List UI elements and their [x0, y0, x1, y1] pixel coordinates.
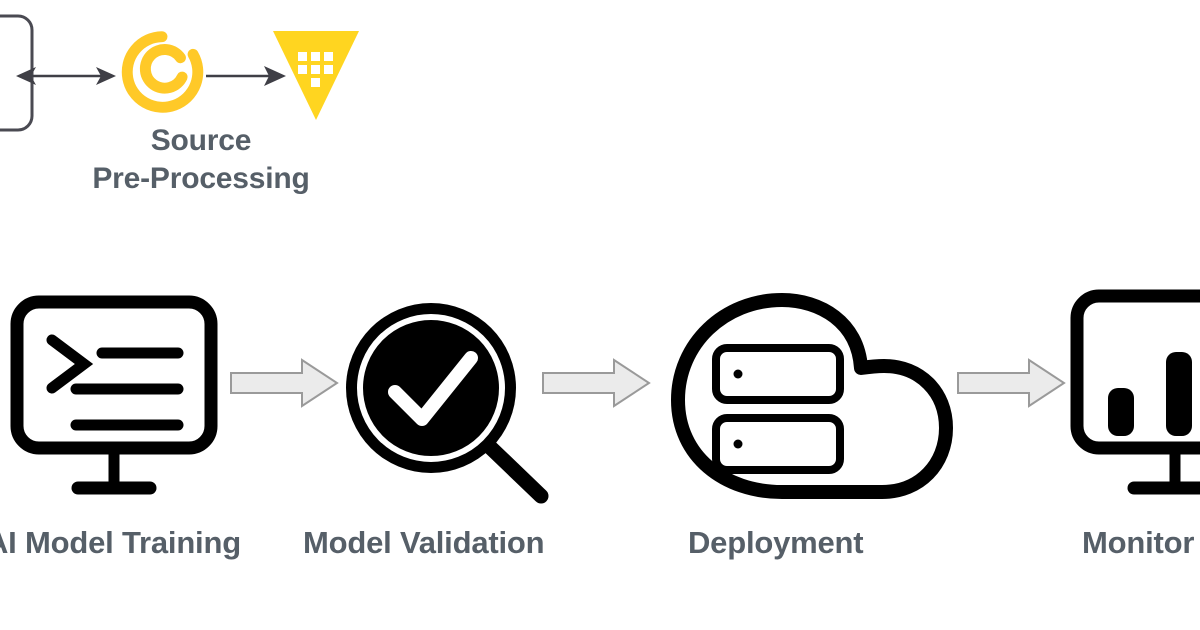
pipeline-step-ai-model-training[interactable] [10, 296, 218, 502]
pipeline-step-label-monitoring: Monitor [1082, 525, 1194, 561]
source-preprocessing-label-group: Source Pre-Processing [58, 122, 344, 198]
block-arrow-right-icon [540, 356, 652, 410]
pipeline-step-model-validation[interactable] [343, 300, 563, 504]
pipeline-step-deployment[interactable] [668, 296, 956, 504]
magnifier-checkmark-icon [343, 300, 563, 504]
pipeline-step-label-model-validation: Model Validation [303, 525, 544, 561]
arrow-deployment-to-monitoring [955, 356, 1067, 410]
block-arrow-right-icon [228, 356, 340, 410]
source-label-line-2: Pre-Processing [58, 160, 344, 198]
diagram-canvas: Source Pre-Processing AI Model Training [0, 0, 1200, 630]
pipeline-step-label-ai-model-training: AI Model Training [0, 525, 241, 561]
funnel-grid-triangle-icon [272, 28, 360, 124]
cloud-server-icon [668, 296, 956, 504]
spiral-icon [120, 30, 204, 114]
block-arrow-right-icon [955, 356, 1067, 410]
pipeline-step-label-deployment: Deployment [688, 525, 863, 561]
source-label-line-1: Source [58, 122, 344, 160]
pipeline-step-monitoring[interactable] [1070, 290, 1200, 502]
concentric-spiral-icon [120, 30, 204, 114]
double-arrow-icon [14, 60, 118, 92]
arrow-validation-to-deployment [540, 356, 652, 410]
terminal-monitor-icon [10, 296, 218, 502]
arrow-training-to-validation [228, 356, 340, 410]
funnel-icon [272, 28, 360, 124]
connector-source-bidirectional-arrow [14, 60, 118, 92]
monitor-bar-chart-icon [1070, 290, 1200, 502]
